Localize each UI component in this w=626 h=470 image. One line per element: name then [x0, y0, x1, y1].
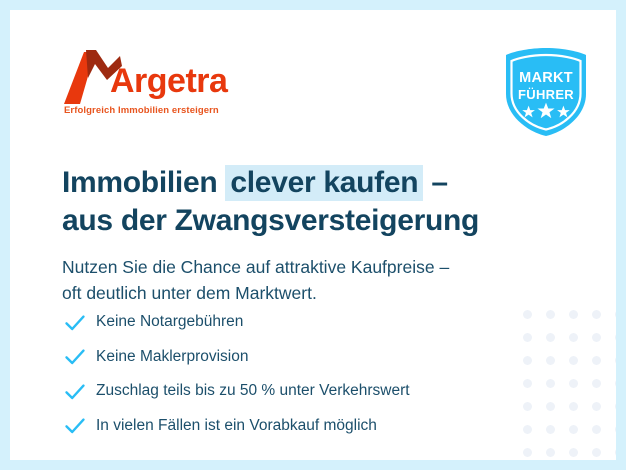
- dot: [592, 356, 601, 365]
- dot: [592, 379, 601, 388]
- list-item: Keine Maklerprovision: [63, 343, 513, 372]
- star-icon: [519, 102, 573, 118]
- benefit-list: Keine NotargebührenKeine Maklerprovision…: [63, 308, 513, 446]
- logo-wordmark: Argetra: [110, 64, 227, 98]
- list-item: In vielen Fällen ist ein Vorabkauf mögli…: [63, 412, 513, 441]
- dot: [615, 310, 616, 319]
- dot: [615, 333, 616, 342]
- dot: [592, 333, 601, 342]
- dot: [569, 310, 578, 319]
- subheadline: Nutzen Sie die Chance auf attraktive Kau…: [62, 254, 542, 307]
- list-item-label: Keine Notargebühren: [96, 313, 243, 332]
- dot: [592, 425, 601, 434]
- dot: [546, 356, 555, 365]
- check-icon: [63, 414, 87, 438]
- check-icon: [63, 345, 87, 369]
- dot: [569, 448, 578, 457]
- dot: [615, 402, 616, 411]
- headline-line-2: aus der Zwangsversteigerung: [62, 202, 532, 240]
- dot: [615, 425, 616, 434]
- dot: [615, 379, 616, 388]
- dot: [546, 379, 555, 388]
- dot: [615, 448, 616, 457]
- decorative-dot-grid: [523, 310, 616, 460]
- dot: [569, 425, 578, 434]
- check-icon: [63, 380, 87, 404]
- dot: [615, 356, 616, 365]
- dot: [546, 310, 555, 319]
- list-item-label: Keine Maklerprovision: [96, 348, 249, 367]
- dot: [546, 448, 555, 457]
- dot: [592, 310, 601, 319]
- promo-banner-card: Argetra Erfolgreich Immobilien ersteiger…: [10, 10, 616, 460]
- dot: [569, 333, 578, 342]
- dot: [523, 448, 532, 457]
- headline: Immobilien clever kaufen – aus der Zwang…: [62, 164, 532, 240]
- subheadline-line-2: oft deutlich unter dem Marktwert.: [62, 280, 542, 307]
- dot: [523, 333, 532, 342]
- dot: [523, 356, 532, 365]
- logo-tagline: Erfolgreich Immobilien ersteigern: [64, 105, 219, 116]
- check-icon: [63, 311, 87, 335]
- headline-line-1: Immobilien clever kaufen –: [62, 164, 532, 202]
- dot: [592, 402, 601, 411]
- headline-highlight: clever kaufen: [225, 165, 423, 201]
- subheadline-line-1: Nutzen Sie die Chance auf attraktive Kau…: [62, 254, 542, 281]
- badge-stars: [502, 102, 590, 123]
- dot: [523, 379, 532, 388]
- dot: [592, 448, 601, 457]
- dot-row: [523, 333, 616, 342]
- dot: [523, 310, 532, 319]
- badge-line-1: MARKT: [502, 71, 590, 86]
- dot-row: [523, 425, 616, 434]
- badge-line-2: FÜHRER: [502, 88, 590, 101]
- list-item: Keine Notargebühren: [63, 308, 513, 337]
- dot: [569, 356, 578, 365]
- dot: [523, 425, 532, 434]
- dot: [546, 425, 555, 434]
- headline-text-before: Immobilien: [62, 166, 225, 199]
- dot: [569, 379, 578, 388]
- dot: [523, 402, 532, 411]
- dot-row: [523, 310, 616, 319]
- market-leader-badge: MARKT FÜHRER: [502, 46, 590, 138]
- list-item-label: Zuschlag teils bis zu 50 % unter Verkehr…: [96, 382, 410, 401]
- headline-text-after: –: [423, 166, 447, 199]
- dot-row: [523, 379, 616, 388]
- list-item: Zuschlag teils bis zu 50 % unter Verkehr…: [63, 377, 513, 406]
- dot: [569, 402, 578, 411]
- dot: [546, 333, 555, 342]
- list-item-label: In vielen Fällen ist ein Vorabkauf mögli…: [96, 417, 377, 436]
- dot-row: [523, 448, 616, 457]
- argetra-logo: Argetra Erfolgreich Immobilien ersteiger…: [62, 48, 262, 120]
- dot-row: [523, 402, 616, 411]
- dot: [546, 402, 555, 411]
- dot-row: [523, 356, 616, 365]
